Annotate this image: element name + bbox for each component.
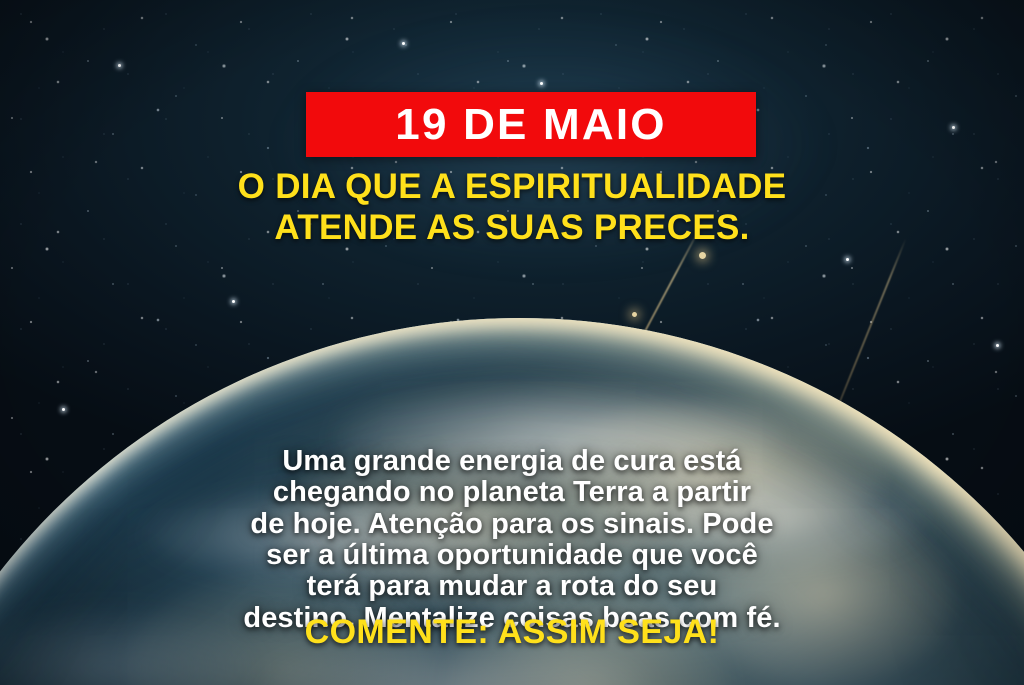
date-banner: 19 DE MAIO [306, 92, 756, 157]
headline-line-2: ATENDE AS SUAS PRECES. [54, 207, 970, 248]
body-copy-line-3: de hoje. Atenção para os sinais. Pode [52, 509, 972, 540]
body-copy-line-5: terá para mudar a rota do seu [52, 571, 972, 602]
poster-content: 19 DE MAIO O DIA QUE A ESPIRITUALIDADE A… [0, 0, 1024, 685]
call-to-action-label: COMENTE: ASSIM SEJA! [305, 613, 720, 651]
date-banner-label: 19 DE MAIO [395, 103, 666, 147]
body-copy-line-2: chegando no planeta Terra a partir [52, 477, 972, 508]
poster-canvas: 19 DE MAIO O DIA QUE A ESPIRITUALIDADE A… [0, 0, 1024, 685]
body-copy-line-1: Uma grande energia de cura está [52, 446, 972, 477]
headline: O DIA QUE A ESPIRITUALIDADE ATENDE AS SU… [0, 166, 1024, 249]
headline-line-1: O DIA QUE A ESPIRITUALIDADE [54, 166, 970, 207]
body-copy: Uma grande energia de cura está chegando… [0, 446, 1024, 634]
body-copy-line-4: ser a última oportunidade que você [52, 540, 972, 571]
call-to-action: COMENTE: ASSIM SEJA! [0, 614, 1024, 651]
